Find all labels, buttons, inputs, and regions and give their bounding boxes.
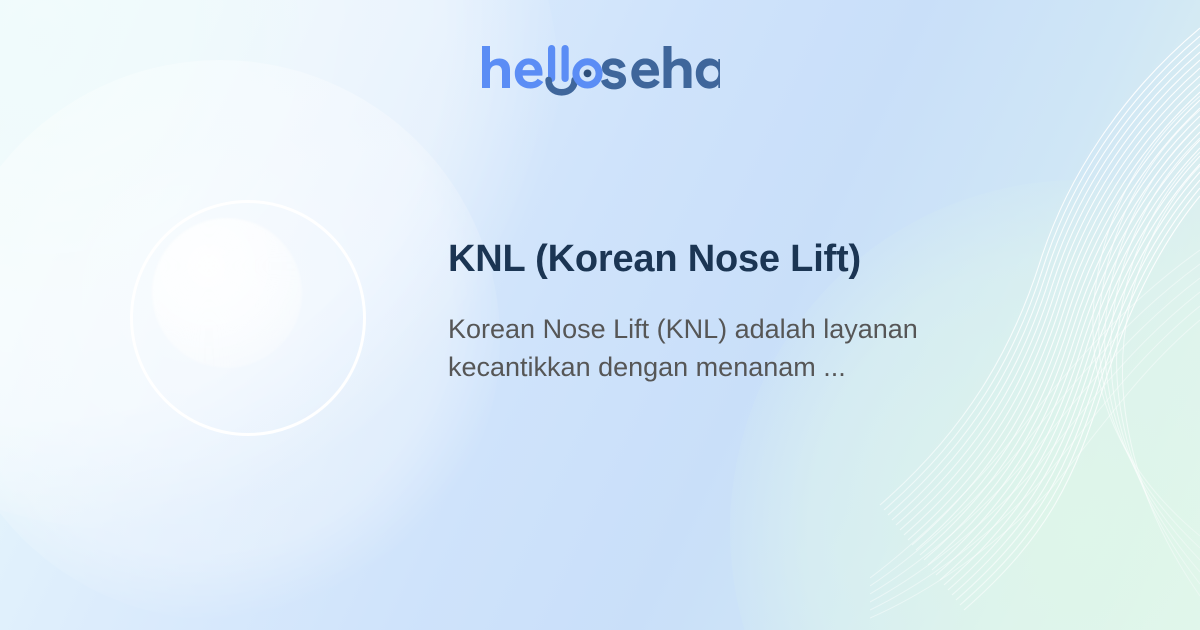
article-text-block: KNL (Korean Nose Lift) Korean Nose Lift …: [448, 238, 1048, 386]
brand-logo[interactable]: [0, 42, 1200, 100]
decorative-ring: [130, 200, 366, 436]
article-description: Korean Nose Lift (KNL) adalah layanan ke…: [448, 310, 993, 387]
page-title: KNL (Korean Nose Lift): [448, 238, 1048, 282]
decorative-ring-outline: [130, 200, 366, 436]
hellosehat-logo-icon: [480, 42, 720, 100]
share-card: KNL (Korean Nose Lift) Korean Nose Lift …: [0, 0, 1200, 630]
